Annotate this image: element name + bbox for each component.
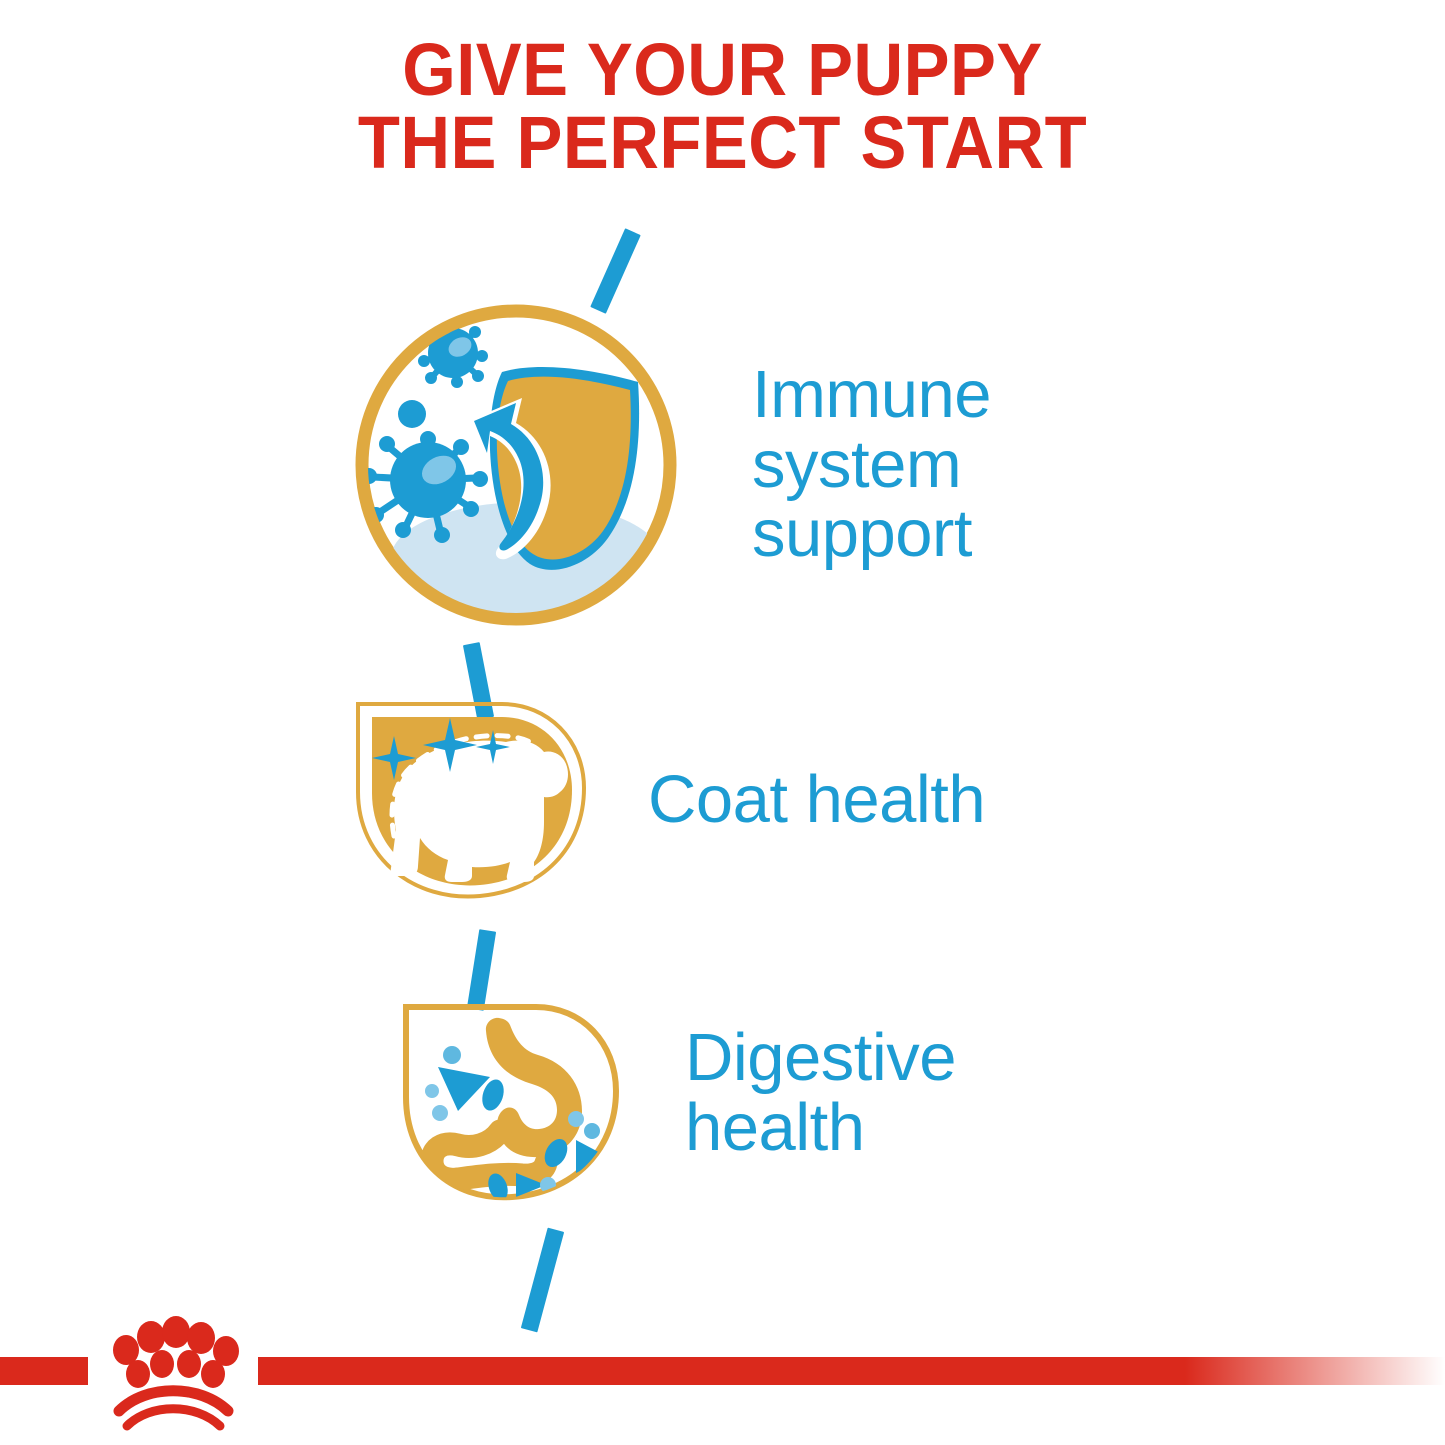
virus-dot-icon bbox=[398, 400, 426, 428]
benefit-row-coat: Coat health bbox=[330, 680, 1430, 930]
benefit-label-coat: Coat health bbox=[648, 765, 985, 835]
infographic-page: GIVE YOUR PUPPY THE PERFECT START bbox=[0, 0, 1445, 1445]
flow-arrow-icon bbox=[438, 1067, 490, 1111]
digestive-icon-contents bbox=[425, 1018, 608, 1219]
royal-canin-crown-logo bbox=[88, 1310, 258, 1438]
benefit-label-digestive: Digestive health bbox=[685, 1023, 956, 1162]
headline-line-2: THE PERFECT START bbox=[51, 107, 1395, 180]
digestive-health-shield-icon bbox=[380, 985, 650, 1230]
headline-line-1: GIVE YOUR PUPPY bbox=[51, 34, 1395, 107]
page-title: GIVE YOUR PUPPY THE PERFECT START bbox=[51, 34, 1395, 179]
benefit-row-digestive: Digestive health bbox=[380, 985, 1445, 1230]
benefit-label-immune: Immune system support bbox=[752, 360, 991, 569]
crown-dots bbox=[113, 1316, 239, 1388]
benefit-row-immune: Immune system support bbox=[340, 290, 1440, 650]
connector-dash-bottom bbox=[521, 1228, 564, 1333]
immune-shield-circle-icon bbox=[340, 290, 720, 650]
crown-arches bbox=[127, 1409, 220, 1426]
coat-health-shield-icon bbox=[330, 680, 630, 930]
